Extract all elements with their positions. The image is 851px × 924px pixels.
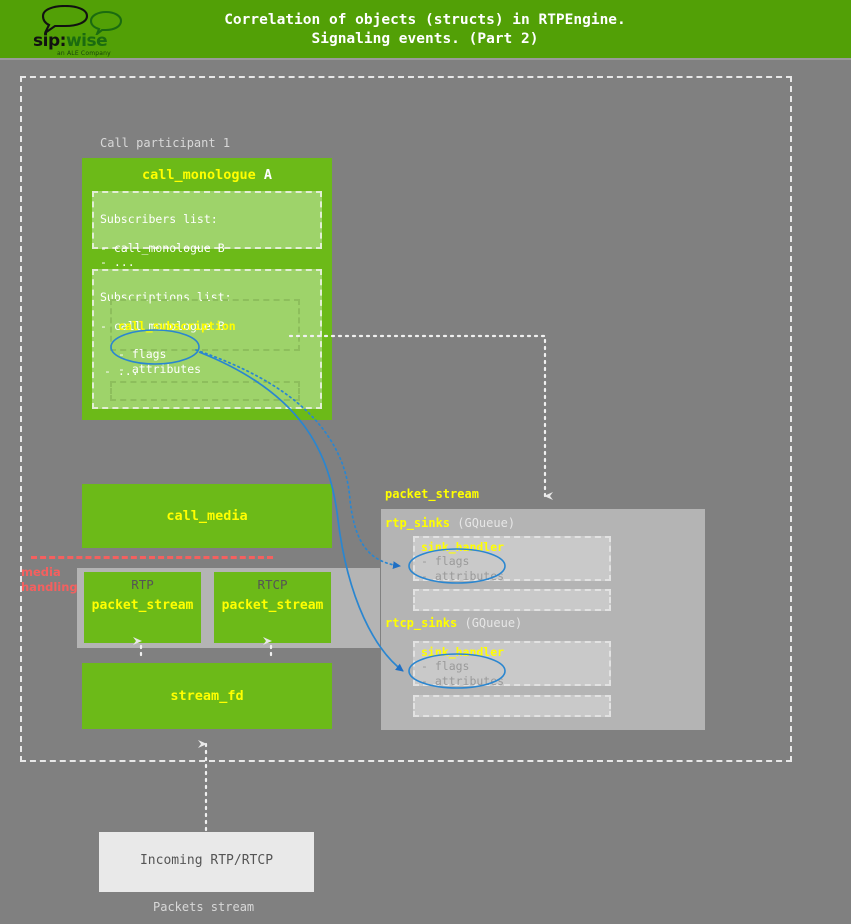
incoming-rtp-rtcp-text: Incoming RTP/RTCP: [99, 853, 314, 868]
rtp-packet-stream-box: RTP packet_stream: [84, 572, 201, 643]
page-title: Correlation of objects (structs) in RTPE…: [170, 11, 680, 49]
rtp-sinks-type: (GQueue): [450, 516, 515, 530]
rtp-struct-name: packet_stream: [84, 598, 201, 613]
call-participant-label: Call participant 1: [100, 136, 230, 150]
subscribers-list-box: Subscribers list: - call_monologue B - .…: [92, 191, 322, 249]
media-handling-label: media handling: [21, 565, 81, 595]
call-monologue-title: call_monologue A: [82, 167, 332, 183]
diagram-canvas: sip:wise an ALE Company Correlation of o…: [0, 0, 851, 924]
packet-stream-panel: rtp_sinks (GQueue) sink_handler - flags …: [381, 509, 705, 730]
call-subscription-title: call_subscription: [118, 319, 292, 333]
logo-sip-text: sip: [33, 31, 60, 51]
subscriptions-more-label: - ...: [104, 364, 139, 379]
sink-handler-item: sink_handler - flags - attributes: [413, 536, 611, 581]
rtp-sinks-label: rtp_sinks (GQueue): [385, 516, 515, 530]
call-media-box: call_media: [82, 484, 332, 548]
call-subscription-empty-box: [110, 381, 300, 401]
sink-handler-fields: - flags - attributes: [421, 659, 603, 688]
subscriptions-list-box: Subscriptions list: - call monologue B c…: [92, 269, 322, 409]
rtcp-struct-name: packet_stream: [214, 598, 331, 613]
call-monologue-box: call_monologue A Subscribers list: - cal…: [82, 158, 332, 420]
subscribers-list-header: Subscribers list:: [100, 212, 314, 227]
call-media-title: call_media: [82, 508, 332, 524]
incoming-rtp-rtcp-box: Incoming RTP/RTCP: [99, 832, 314, 892]
sink-handler-item-empty: [413, 695, 611, 717]
logo-wise-text: wise: [66, 31, 107, 51]
rtp-sinks-name: rtp_sinks: [385, 516, 450, 530]
page-header: sip:wise an ALE Company Correlation of o…: [0, 0, 851, 60]
logo-tagline: an ALE Company: [57, 50, 137, 57]
call-subscription-box: call_subscription - flags - attributes: [110, 299, 300, 351]
sink-handler-fields: - flags - attributes: [421, 554, 603, 583]
logo-wordmark: sip:wise: [33, 33, 133, 49]
subscribers-list-items: - call_monologue B - ...: [100, 241, 314, 270]
packet-stream-struct-label: packet_stream: [385, 487, 479, 501]
stream-fd-box: stream_fd: [82, 663, 332, 729]
rtcp-sinks-label: rtcp_sinks (GQueue): [385, 616, 522, 630]
packets-stream-label: Packets stream: [153, 900, 254, 914]
call-monologue-title-suffix: A: [256, 167, 272, 183]
sink-handler-title: sink_handler: [421, 645, 603, 659]
rtcp-sinks-name: rtcp_sinks: [385, 616, 457, 630]
sink-handler-title: sink_handler: [421, 540, 603, 554]
sipwise-logo: sip:wise an ALE Company: [33, 5, 133, 57]
rtp-label: RTP: [84, 577, 201, 592]
rtcp-packet-stream-box: RTCP packet_stream: [214, 572, 331, 643]
stream-fd-title: stream_fd: [82, 688, 332, 704]
media-handling-divider: [31, 556, 273, 559]
rtcp-sinks-type: (GQueue): [457, 616, 522, 630]
rtcp-label: RTCP: [214, 577, 331, 592]
call-subscription-fields: - flags - attributes: [118, 347, 292, 376]
sink-handler-item-empty: [413, 589, 611, 611]
call-monologue-title-main: call_monologue: [142, 167, 256, 183]
sink-handler-item: sink_handler - flags - attributes: [413, 641, 611, 686]
